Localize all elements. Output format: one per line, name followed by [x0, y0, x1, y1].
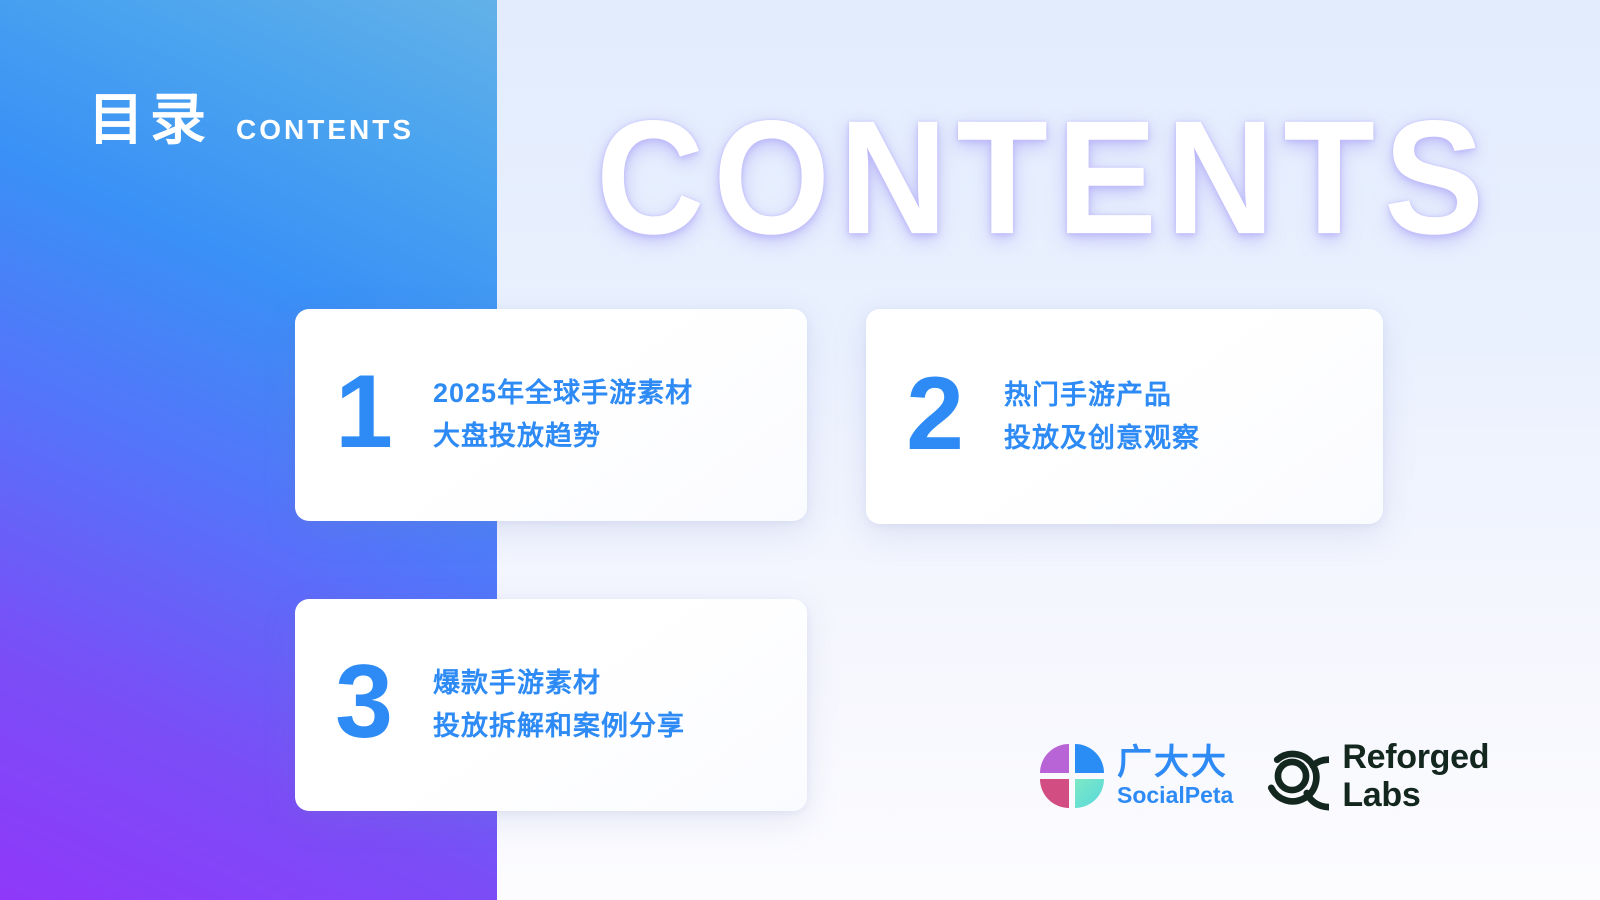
item-label-2-line1: 热门手游产品: [1004, 374, 1383, 417]
socialpeta-petal-icon: [1040, 744, 1104, 808]
petal-top-left-icon: [1040, 744, 1069, 773]
page-title-en: CONTENTS: [236, 116, 414, 148]
contents-item-1[interactable]: 1 2025年全球手游素材 大盘投放趋势: [295, 309, 807, 521]
petal-top-right-icon: [1075, 744, 1104, 773]
item-number-3: 3: [295, 650, 433, 760]
petal-bottom-right-icon: [1075, 779, 1104, 808]
socialpeta-name-cn: 广大大: [1117, 745, 1233, 782]
reforged-line1: Reforged: [1342, 738, 1489, 776]
item-label-1-line1: 2025年全球手游素材: [433, 372, 807, 415]
page-title-cn: 目录: [88, 92, 212, 148]
item-number-1: 1: [295, 360, 433, 470]
item-label-2-line2: 投放及创意观察: [1004, 417, 1383, 460]
socialpeta-wordmark: 广大大 SocialPeta: [1117, 745, 1233, 808]
petal-bottom-left-icon: [1040, 779, 1069, 808]
item-label-1: 2025年全球手游素材 大盘投放趋势: [433, 372, 807, 457]
item-label-3: 爆款手游素材 投放拆解和案例分享: [433, 662, 807, 747]
reforged-labs-logo: Reforged Labs: [1255, 738, 1489, 814]
background-contents-watermark: CONTENTS: [596, 96, 1493, 258]
socialpeta-name-en: SocialPeta: [1117, 783, 1233, 807]
socialpeta-logo: 广大大 SocialPeta: [1040, 744, 1233, 808]
logo-row: 广大大 SocialPeta Reforged Labs: [1040, 738, 1489, 814]
slide-canvas: CONTENTS 目录 CONTENTS 1 2025年全球手游素材 大盘投放趋…: [0, 0, 1600, 900]
slide-header: 目录 CONTENTS: [88, 92, 414, 148]
reforged-wordmark: Reforged Labs: [1342, 738, 1489, 814]
contents-item-2[interactable]: 2 热门手游产品 投放及创意观察: [866, 309, 1383, 524]
contents-item-3[interactable]: 3 爆款手游素材 投放拆解和案例分享: [295, 599, 807, 811]
item-number-2: 2: [866, 362, 1004, 472]
item-label-1-line2: 大盘投放趋势: [433, 415, 807, 458]
item-label-3-line1: 爆款手游素材: [433, 662, 807, 705]
reforged-spiral-icon: [1255, 739, 1329, 813]
item-label-2: 热门手游产品 投放及创意观察: [1004, 374, 1383, 459]
item-label-3-line2: 投放拆解和案例分享: [433, 705, 807, 748]
reforged-line2: Labs: [1342, 776, 1489, 814]
